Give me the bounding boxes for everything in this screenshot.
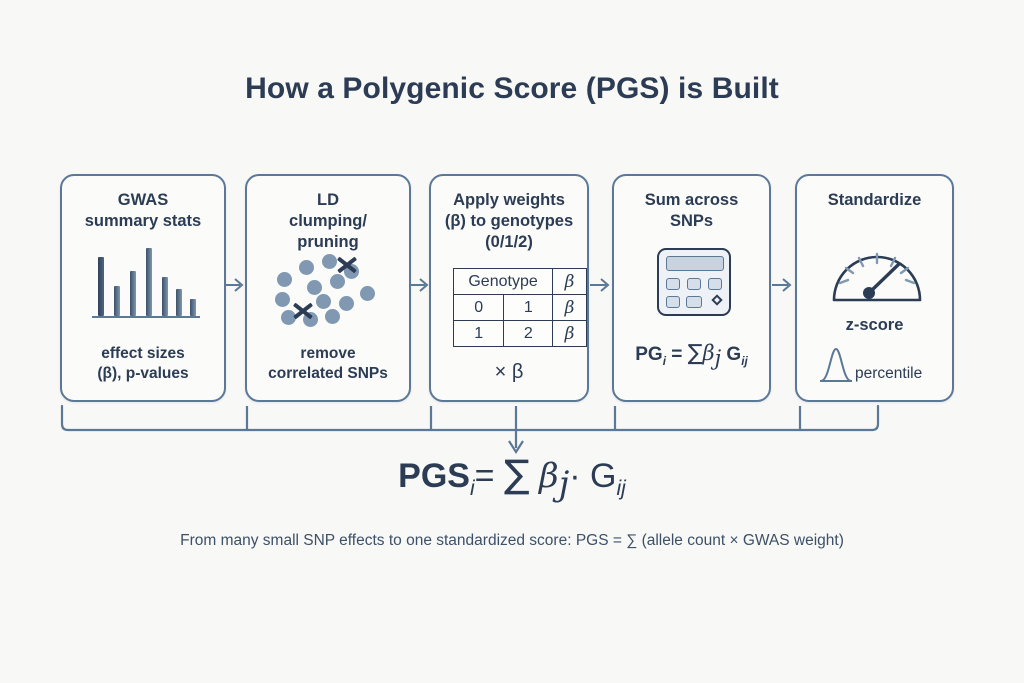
step-heading-line3: pruning — [297, 233, 358, 251]
step-card-apply-weights[interactable]: Apply weights (β) to genotypes (0/1/2) G… — [429, 174, 589, 402]
connector-arrow-1 — [224, 275, 246, 295]
step-heading-line1: LD — [317, 191, 339, 209]
calculator-key — [666, 278, 680, 290]
step-card-standardize[interactable]: Standardize z-score — [795, 174, 954, 402]
step-card-ld-clumping[interactable]: LD clumping/ pruning remove correlated S… — [245, 174, 411, 402]
table-row: 0 1 β — [454, 295, 587, 321]
step-heading-line1: GWAS — [118, 191, 168, 209]
formula-g-sub: ij — [616, 477, 625, 500]
connector-arrow-3 — [590, 275, 612, 295]
bar-1 — [98, 257, 104, 316]
snp-dot — [275, 292, 290, 307]
calculator-key — [686, 296, 702, 308]
step-footer-line2: correlated SNPs — [268, 365, 388, 382]
step-heading-ld: LD clumping/ pruning — [247, 190, 409, 253]
table-cell: 1 — [504, 295, 553, 321]
formula-lhs-sub: i — [663, 355, 666, 368]
bar-chart-baseline — [92, 316, 200, 319]
snp-dot — [277, 272, 292, 287]
formula-equals: = — [475, 457, 495, 495]
table-row: 1 2 β — [454, 321, 587, 347]
caption: From many small SNP effects to one stand… — [0, 532, 1024, 550]
snp-dot — [299, 260, 314, 275]
genotype-table-icon: Genotype β 0 1 β 1 2 β — [453, 268, 587, 347]
bar-6 — [176, 289, 182, 316]
remove-x-icon — [335, 252, 359, 276]
calculator-key — [666, 296, 680, 308]
formula-sigma: ∑ — [688, 341, 703, 366]
page-title: How a Polygenic Score (PGS) is Built — [0, 72, 1024, 106]
calculator-diamond-key — [711, 294, 722, 305]
gauge-icon — [831, 236, 923, 302]
snp-dot — [360, 286, 375, 301]
percentile-group: percentile — [819, 345, 922, 388]
formula-beta: β — [539, 456, 559, 496]
main-formula: PGSi= ∑ βj· Gij — [0, 452, 1024, 504]
calculator-icon — [657, 248, 731, 316]
step-card-sum-across-snps[interactable]: Sum across SNPs PGi = ∑βj Gij — [612, 174, 771, 402]
table-header-beta: β — [553, 269, 587, 295]
table-header-genotype: Genotype — [454, 269, 553, 295]
calculator-key — [708, 278, 722, 290]
formula-g-sub: ij — [741, 355, 748, 368]
calculator-key — [687, 278, 701, 290]
snp-dot — [330, 274, 345, 289]
bar-chart-icon — [92, 250, 200, 318]
step-footer-ld: remove correlated SNPs — [247, 344, 409, 384]
step-heading-standardize: Standardize — [797, 190, 952, 211]
snp-dot — [339, 296, 354, 311]
table-cell: 0 — [454, 295, 504, 321]
connector-arrow-4 — [772, 275, 794, 295]
formula-g: G — [726, 344, 741, 365]
step-card-gwas[interactable]: GWAS summary stats effect sizes (β), p-v… — [60, 174, 226, 402]
table-cell: 1 — [454, 321, 504, 347]
bar-7 — [190, 299, 196, 316]
formula-dot: · — [569, 457, 580, 495]
bar-4 — [146, 248, 152, 316]
formula-sigma: ∑ — [504, 452, 530, 496]
step-footer-multiply-beta: × β — [431, 361, 587, 384]
diagram-canvas: How a Polygenic Score (PGS) is Built GWA… — [0, 0, 1024, 683]
scatter-dots-icon — [269, 252, 391, 328]
table-cell: 2 — [504, 321, 553, 347]
remove-x-icon — [291, 298, 315, 322]
step-heading-weights: Apply weights (β) to genotypes (0/1/2) — [431, 190, 587, 253]
connector-arrow-2 — [409, 275, 431, 295]
step-heading-line2: clumping/ — [289, 212, 367, 230]
table-cell-beta: β — [553, 321, 587, 347]
step-formula-pg: PGi = ∑βj Gij — [614, 341, 769, 370]
step-heading-line1: Sum across — [645, 191, 739, 209]
step-footer-gwas: effect sizes (β), p-values — [62, 344, 224, 384]
formula-beta-sub: j — [559, 464, 570, 504]
step-heading-line1: Apply weights — [453, 191, 565, 209]
step-heading-line2: (β) to genotypes — [445, 212, 573, 230]
bar-3 — [130, 271, 136, 316]
snp-dot — [325, 309, 340, 324]
formula-lhs: PG — [635, 344, 662, 365]
formula-lhs: PGS — [398, 457, 470, 495]
bell-curve-icon — [819, 345, 853, 388]
summary-bracket — [55, 400, 885, 460]
zscore-label: z-score — [797, 316, 952, 335]
step-heading-line1: Standardize — [828, 191, 922, 209]
step-heading-gwas: GWAS summary stats — [62, 190, 224, 232]
snp-dot — [307, 280, 322, 295]
bar-5 — [162, 277, 168, 316]
step-heading-sum: Sum across SNPs — [614, 190, 769, 232]
step-heading-line2: summary stats — [85, 212, 201, 230]
formula-beta-sub: j — [715, 346, 722, 370]
step-footer-line2: (β), p-values — [97, 365, 188, 382]
step-heading-line2: SNPs — [670, 212, 713, 230]
bar-2 — [114, 286, 120, 316]
step-heading-line3: (0/1/2) — [485, 233, 533, 251]
table-header-row: Genotype β — [454, 269, 587, 295]
formula-beta: β — [702, 341, 714, 365]
table-cell-beta: β — [553, 295, 587, 321]
formula-equals: = — [671, 344, 682, 365]
step-footer-line1: remove — [300, 345, 355, 362]
formula-g: G — [590, 457, 616, 495]
snp-dot — [316, 294, 331, 309]
step-footer-line1: effect sizes — [101, 345, 185, 362]
percentile-label: percentile — [855, 365, 922, 388]
calculator-display — [666, 256, 724, 271]
